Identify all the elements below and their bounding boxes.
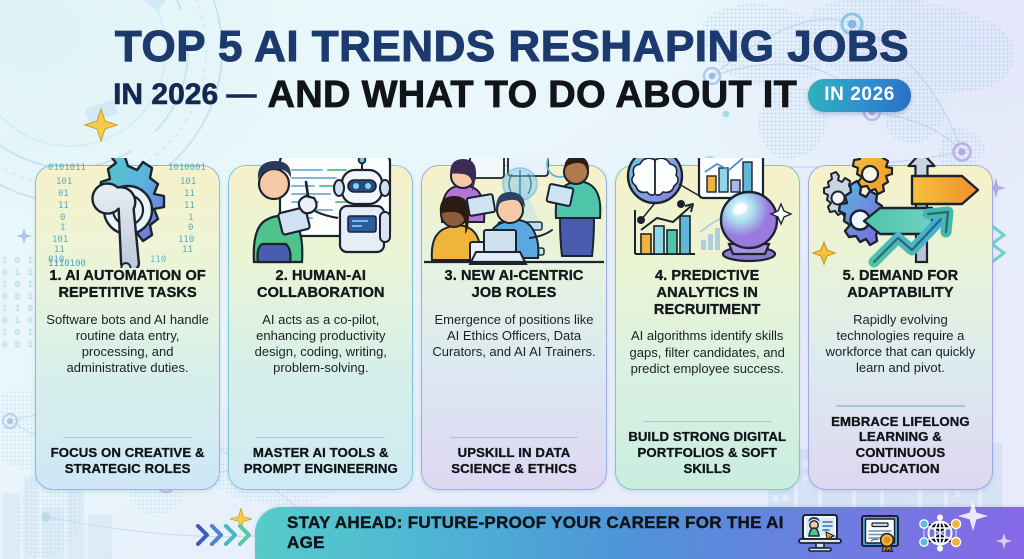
card-2-artwork [238, 158, 403, 266]
card-1-divider [63, 437, 192, 439]
trend-card-5[interactable]: 5. DEMAND FOR ADAPTABILITY Rapidly evolv… [808, 165, 993, 490]
svg-text:01: 01 [58, 189, 69, 199]
page-title-line1: TOP 5 AI TRENDS RESHAPING JOBS [0, 24, 1024, 70]
svg-text:110: 110 [178, 235, 194, 245]
gears-signpost-arrow-icon [812, 158, 988, 268]
page-title-line2-main: AND WHAT TO DO ABOUT IT [267, 74, 797, 117]
certificate-seal-icon [860, 514, 900, 552]
footer-icon-group [798, 514, 962, 552]
svg-text:11: 11 [58, 201, 69, 211]
card-4-action: BUILD STRONG DIGITAL PORTFOLIOS & SOFT S… [625, 429, 790, 481]
human-robot-handshake-icon [236, 158, 406, 268]
card-4-artwork [625, 158, 790, 266]
trend-card-2[interactable]: 2. HUMAN-AI COLLABORATION AI acts as a c… [228, 165, 413, 490]
svg-text:101: 101 [56, 177, 72, 187]
card-1-body: Software bots and AI handle routine data… [45, 312, 210, 433]
page-title-line2-row: IN 2026 — AND WHAT TO DO ABOUT IT IN 202… [0, 74, 1024, 117]
svg-text:0: 0 [188, 223, 193, 233]
svg-text:0: 0 [60, 213, 65, 223]
card-3-artwork [431, 158, 596, 266]
svg-text:101: 101 [52, 235, 68, 245]
infographic-canvas: 1 0 1 0 1 0 1 1 0 1 0 1 1 0 0 1 0 1 1 0 … [0, 0, 1024, 559]
svg-text:11: 11 [54, 245, 65, 255]
card-4-divider [643, 421, 772, 423]
online-learning-laptop-icon [798, 514, 842, 552]
card-3-action: UPSKILL IN DATA SCIENCE & ETHICS [431, 445, 596, 481]
svg-text:0101011: 0101011 [48, 163, 86, 173]
svg-text:1110100: 1110100 [48, 259, 86, 268]
svg-text:11: 11 [184, 201, 195, 211]
card-2-title: 2. HUMAN-AI COLLABORATION [238, 268, 403, 302]
page-title-line2-prefix: IN 2026 — [113, 78, 256, 112]
card-1-title: 1. AI AUTOMATION OF REPETITIVE TASKS [45, 268, 210, 302]
trend-card-list: 0101011101 0111 01 10111 010 1010001101 … [35, 165, 993, 490]
card-5-title: 5. DEMAND FOR ADAPTABILITY [818, 268, 983, 302]
card-1-action: FOCUS ON CREATIVE & STRATEGIC ROLES [45, 445, 210, 481]
gear-wrench-binary-icon: 0101011101 0111 01 10111 010 1010001101 … [46, 158, 210, 268]
card-2-body: AI acts as a co-pilot, enhancing product… [238, 312, 403, 433]
sparkle-icon-small [16, 228, 32, 244]
sparkle-icon-footer [230, 508, 252, 530]
global-network-globe-icon [918, 514, 962, 552]
card-5-body: Rapidly evolving technologies require a … [818, 312, 983, 401]
svg-text:101: 101 [180, 177, 196, 187]
footer-tagline: STAY AHEAD: FUTURE-PROOF YOUR CAREER FOR… [287, 513, 798, 553]
chevron-arrows-decoration [196, 524, 252, 546]
card-4-body: AI algorithms identify skills gaps, filt… [625, 328, 790, 416]
card-2-action: MASTER AI TOOLS & PROMPT ENGINEERING [238, 445, 403, 481]
footer-banner: STAY AHEAD: FUTURE-PROOF YOUR CAREER FOR… [255, 507, 1024, 559]
card-5-action: EMBRACE LIFELONG LEARNING & CONTINUOUS E… [818, 414, 983, 481]
sparkle-icon-footer-right-small [996, 533, 1012, 549]
svg-text:1: 1 [188, 213, 193, 223]
svg-text:110: 110 [150, 255, 166, 265]
team-ai-hologram-icon [424, 158, 604, 270]
svg-text:1010001: 1010001 [168, 163, 206, 173]
card-2-divider [256, 437, 385, 439]
trend-card-4[interactable]: 4. PREDICTIVE ANALYTICS IN RECRUITMENT A… [615, 165, 800, 490]
card-3-divider [450, 437, 579, 439]
header-title-block: TOP 5 AI TRENDS RESHAPING JOBS IN 2026 —… [0, 24, 1024, 117]
year-badge: IN 2026 [808, 79, 911, 112]
sparkle-icon-footer-right [958, 501, 988, 531]
card-1-artwork: 0101011101 0111 01 10111 010 1010001101 … [45, 158, 210, 266]
svg-text:1: 1 [60, 223, 65, 233]
card-5-divider [836, 405, 965, 407]
trend-card-1[interactable]: 0101011101 0111 01 10111 010 1010001101 … [35, 165, 220, 490]
card-3-title: 3. NEW AI-CENTRIC JOB ROLES [431, 268, 596, 302]
card-4-title: 4. PREDICTIVE ANALYTICS IN RECRUITMENT [625, 268, 790, 318]
trend-card-3[interactable]: 3. NEW AI-CENTRIC JOB ROLES Emergence of… [421, 165, 606, 490]
svg-text:11: 11 [184, 189, 195, 199]
brain-charts-crystalball-icon [621, 158, 793, 268]
card-5-artwork [818, 158, 983, 266]
card-3-body: Emergence of positions like AI Ethics Of… [431, 312, 596, 433]
svg-text:11: 11 [182, 245, 193, 255]
